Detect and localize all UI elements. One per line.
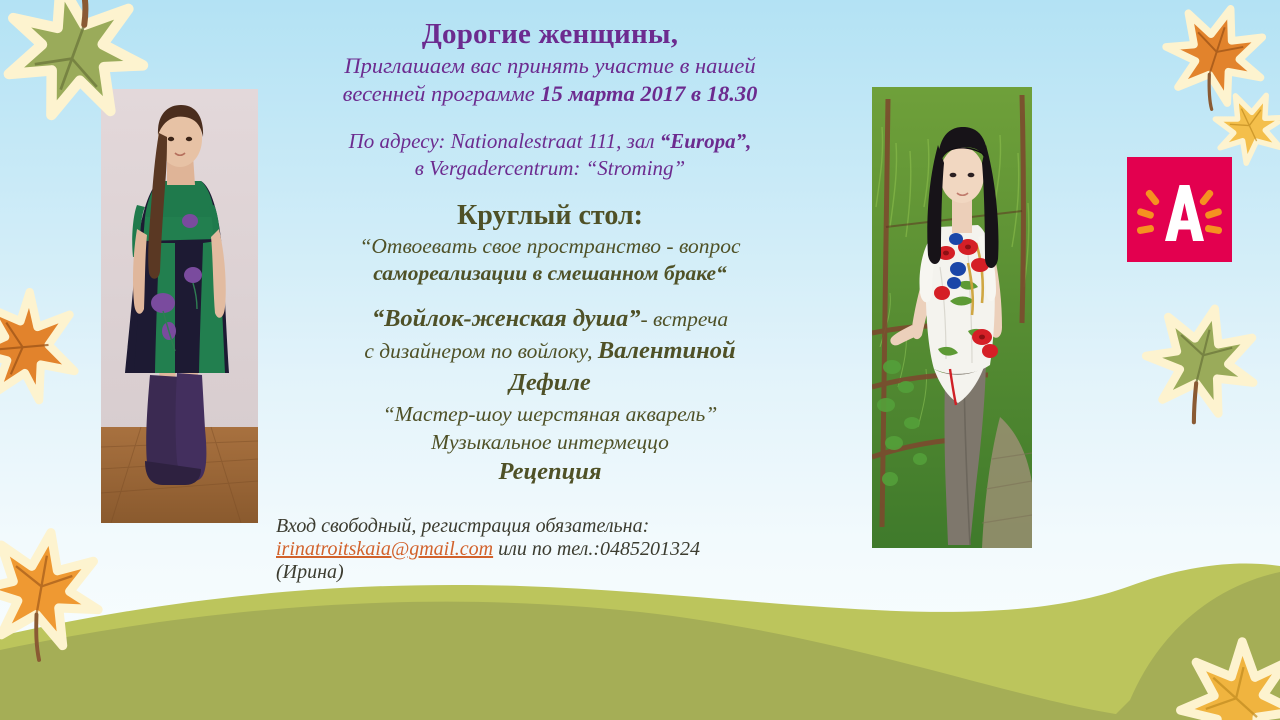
round-table-title: Круглый стол: (268, 200, 832, 232)
leaf-bottom-right-yellow (1174, 636, 1280, 720)
photo-felted-floral-top (872, 87, 1032, 548)
leaf-bottom-left-orange (0, 524, 106, 654)
leaf-top-right-yellow (1211, 88, 1280, 166)
hill-front (0, 602, 1180, 720)
address-line-2: в Vergadercentrum: “Stroming” (268, 155, 832, 182)
program-designer-line: с дизайнером по войлоку, Валентиной (268, 335, 832, 367)
invitation-line-2-prefix: весенней программе (343, 81, 535, 106)
leaf-top-right-orange (1162, 0, 1270, 108)
program-item-reception: Рецепция (268, 456, 832, 488)
footer-contact-block: Вход свободный, регистрация обязательна:… (268, 515, 832, 585)
address-line-1: По адресу: Nationalestraat 111, зал “Eur… (268, 128, 832, 155)
address-hall: “Europa”, (660, 129, 752, 153)
program-item-intermezzo: Музыкальное интермеццо (268, 428, 832, 456)
event-date: 15 марта 2017 в 18.30 (540, 81, 757, 106)
leaf-mid-left-orange (0, 288, 84, 406)
round-table-quote-line-2: самореализации в смешанном браке“ (268, 260, 832, 287)
felt-suffix: - встреча (640, 307, 728, 331)
designer-prefix: с дизайнером по войлоку, (364, 339, 598, 363)
program-item-defile: Дефиле (268, 367, 832, 399)
invitation-line-1: Приглашаем вас принять участие в нашей (268, 52, 832, 80)
address-prefix: По адресу: Nationalestraat 111, зал (349, 129, 660, 153)
invitation-text-block: Дорогие женщины, Приглашаем вас принять … (268, 18, 832, 584)
footer-contact-line: irinatroitskaia@gmail.com или по тел.:04… (276, 538, 832, 561)
slide-canvas: Дорогие женщины, Приглашаем вас принять … (0, 0, 1280, 720)
footer-registration-note: Вход свободный, регистрация обязательна: (276, 515, 832, 538)
designer-name: Валентиной (598, 337, 736, 364)
leaf-mid-right-green (1142, 300, 1262, 420)
program-felt-meeting: “Войлок-женская душа”- встреча (268, 303, 832, 335)
hill-back (0, 563, 1280, 720)
invitation-line-2: весенней программе 15 марта 2017 в 18.30 (268, 80, 832, 108)
email-link[interactable]: irinatroitskaia@gmail.com (276, 538, 493, 560)
hill-right (1110, 572, 1280, 720)
phone-text: или по тел.:0485201324 (493, 538, 700, 560)
felt-title: “Войлок-женская душа” (372, 305, 641, 332)
antwerp-a-logo (1127, 157, 1232, 262)
page-title: Дорогие женщины, (268, 18, 832, 52)
footer-contact-person: (Ирина) (276, 561, 832, 584)
round-table-quote-line-1: “Отвоевать свое пространство - вопрос (268, 233, 832, 260)
program-item-master-show: “Мастер-шоу шерстяная акварель” (268, 400, 832, 428)
photo-felted-green-dress (101, 89, 258, 523)
